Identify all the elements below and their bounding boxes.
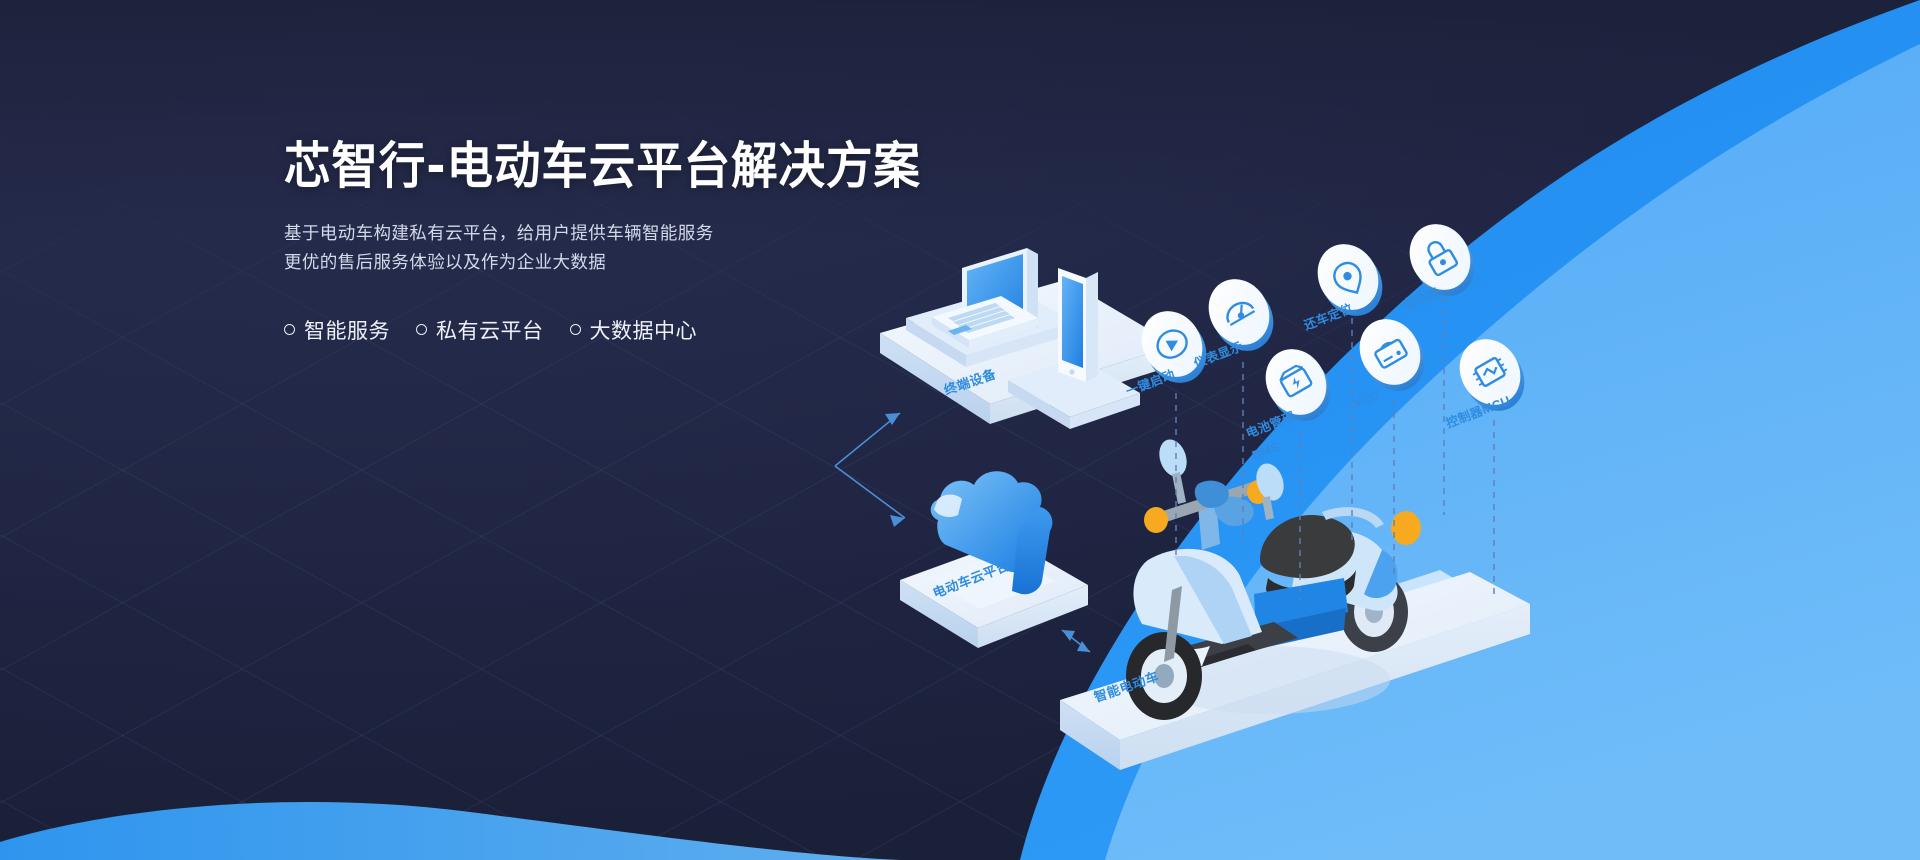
bullet-label: 私有云平台	[436, 315, 544, 345]
feature-bullet-list: 智能服务 私有云平台 大数据中心	[284, 315, 1004, 345]
bullet-label: 智能服务	[304, 315, 390, 345]
circle-outline-icon	[416, 324, 427, 335]
bullet-item-smart-service: 智能服务	[284, 315, 390, 345]
hero-copy: 芯智行-电动车云平台解决方案 基于电动车构建私有云平台，给用户提供车辆智能服务 …	[284, 140, 1004, 345]
circle-outline-icon	[570, 324, 581, 335]
hero-banner: 芯智行-电动车云平台解决方案 基于电动车构建私有云平台，给用户提供车辆智能服务 …	[0, 0, 1920, 860]
hero-subtitle: 基于电动车构建私有云平台，给用户提供车辆智能服务 更优的售后服务体验以及作为企业…	[284, 219, 1004, 277]
wave-inner-shape	[1105, 44, 1920, 860]
bullet-item-big-data: 大数据中心	[570, 315, 698, 345]
wave-bottom-left-shape	[0, 802, 900, 860]
page-title: 芯智行-电动车云平台解决方案	[284, 140, 954, 193]
bullet-item-private-cloud: 私有云平台	[416, 315, 544, 345]
subtitle-line-1: 基于电动车构建私有云平台，给用户提供车辆智能服务	[284, 219, 1004, 248]
bullet-label: 大数据中心	[590, 315, 698, 345]
circle-outline-icon	[284, 324, 295, 335]
blue-wave-decoration	[0, 0, 1920, 860]
subtitle-line-2: 更优的售后服务体验以及作为企业大数据	[284, 248, 1004, 277]
